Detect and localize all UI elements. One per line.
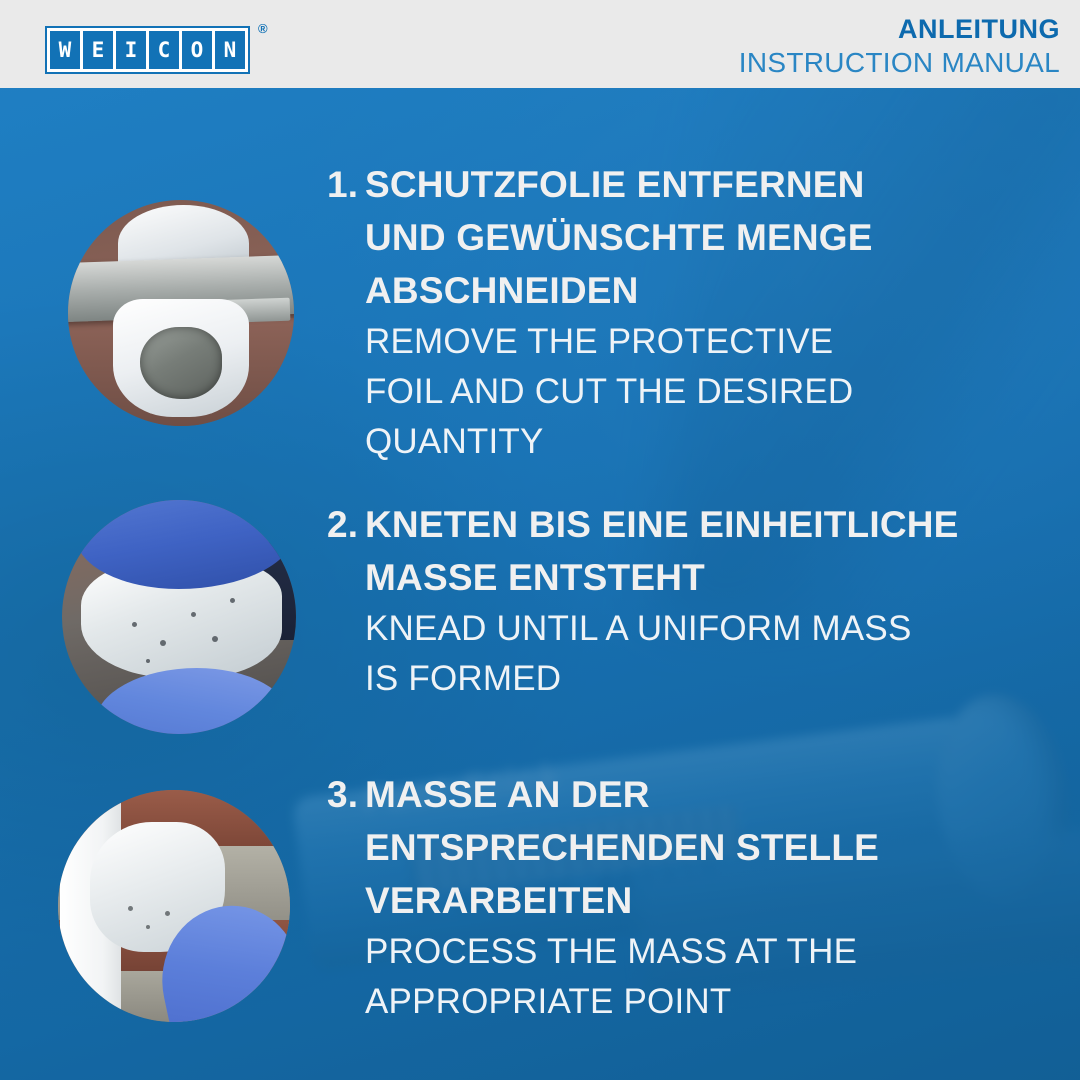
- step-2-photo-knead-mass-with-gloves: [62, 500, 296, 734]
- page-header: W E I C O N ® ANLEITUNG INSTRUCTION MANU…: [0, 0, 1080, 88]
- weicon-logo: W E I C O N ®: [45, 26, 250, 74]
- step-3-en-line-1: PROCESS THE MASS AT THE: [365, 927, 1025, 977]
- step-1-en-line-3: QUANTITY: [365, 417, 1025, 467]
- step-1-text: 1. SCHUTZFOLIE ENTFERNEN UND GEWÜNSCHTE …: [365, 158, 1025, 467]
- step-2-text: 2. KNETEN BIS EINE EINHEITLICHE MASSE EN…: [365, 498, 1045, 704]
- step-1-en-line-1: REMOVE THE PROTECTIVE: [365, 317, 1025, 367]
- steps-container: 1. SCHUTZFOLIE ENTFERNEN UND GEWÜNSCHTE …: [0, 88, 1080, 1080]
- photo-2-scene: [62, 500, 296, 734]
- photo-2-speck: [132, 622, 137, 627]
- step-1-de-line-3: ABSCHNEIDEN: [365, 264, 1025, 317]
- logo-letter-c: C: [149, 31, 179, 69]
- photo-3-speck: [165, 911, 170, 916]
- step-1-de-line-1-row: 1. SCHUTZFOLIE ENTFERNEN: [365, 158, 1025, 211]
- photo-1-grey-hardener-core: [140, 327, 221, 399]
- logo-letter-i: I: [116, 31, 146, 69]
- step-3-number: 3.: [327, 768, 358, 821]
- step-1-de-line-2: UND GEWÜNSCHTE MENGE: [365, 211, 1025, 264]
- photo-2-speck: [212, 636, 218, 642]
- logo-letter-n: N: [215, 31, 245, 69]
- photo-3-speck: [128, 906, 133, 911]
- step-3-de-line-3: VERARBEITEN: [365, 874, 1025, 927]
- step-1-number: 1.: [327, 158, 358, 211]
- step-2-en-line-2: IS FORMED: [365, 654, 1045, 704]
- photo-1-scene: [68, 200, 294, 426]
- step-2-en-line-1: KNEAD UNTIL A UNIFORM MASS: [365, 604, 1045, 654]
- step-3-text: 3. MASSE AN DER ENTSPRECHENDEN STELLE VE…: [365, 768, 1025, 1027]
- header-titles: ANLEITUNG INSTRUCTION MANUAL: [739, 14, 1060, 79]
- step-3-de-line-2: ENTSPRECHENDEN STELLE: [365, 821, 1025, 874]
- step-1-photo-cut-putty-stick-with-blade: [68, 200, 294, 426]
- instruction-manual-graphic: Fast Stick 4 024596 003418 W E I C O N ®…: [0, 0, 1080, 1080]
- step-3-de-line-1-row: 3. MASSE AN DER: [365, 768, 1025, 821]
- logo-letter-e: E: [83, 31, 113, 69]
- step-2-de-line-1: KNETEN BIS EINE EINHEITLICHE: [365, 504, 959, 545]
- header-title-en: INSTRUCTION MANUAL: [739, 47, 1060, 79]
- step-1-de-line-1: SCHUTZFOLIE ENTFERNEN: [365, 164, 865, 205]
- step-3-en-line-2: APPROPRIATE POINT: [365, 977, 1025, 1027]
- registered-trademark-icon: ®: [258, 22, 268, 35]
- logo-letter-o: O: [182, 31, 212, 69]
- photo-3-scene: [58, 790, 290, 1022]
- header-title-de: ANLEITUNG: [739, 14, 1060, 45]
- step-2-de-line-1-row: 2. KNETEN BIS EINE EINHEITLICHE: [365, 498, 1045, 551]
- logo-letter-w: W: [50, 31, 80, 69]
- step-2-de-line-2: MASSE ENTSTEHT: [365, 551, 1045, 604]
- logo-frame: W E I C O N: [45, 26, 250, 74]
- step-3-photo-apply-mass-to-brickwork: [58, 790, 290, 1022]
- step-1-en-line-2: FOIL AND CUT THE DESIRED: [365, 367, 1025, 417]
- step-2-number: 2.: [327, 498, 358, 551]
- step-3-de-line-1: MASSE AN DER: [365, 774, 650, 815]
- photo-3-speck: [146, 925, 150, 929]
